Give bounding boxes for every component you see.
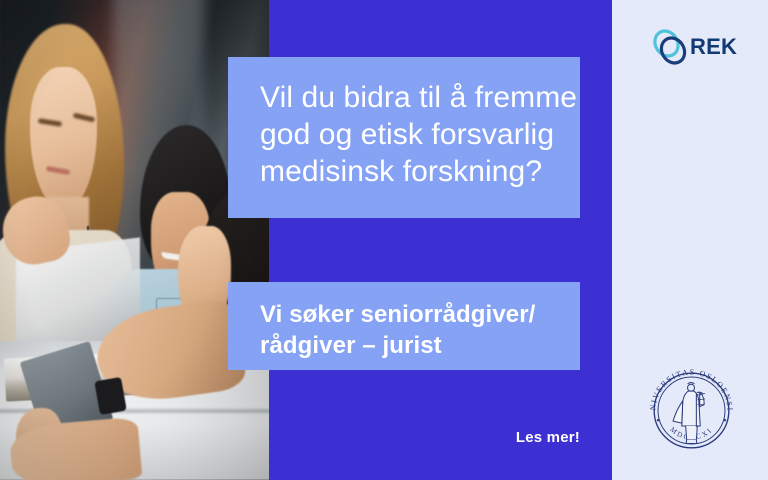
recruitment-banner: Vil du bidra til å fremme god og etisk f… — [0, 0, 768, 480]
role-line-1: Vi søker seniorrådgiver/ — [260, 299, 554, 330]
headline-card: Vil du bidra til å fremme god og etisk f… — [228, 57, 580, 218]
university-of-oslo-seal: UNIVERSITAS OSLOENSIS MDCCCXI — [643, 362, 740, 459]
role-line-2: rådgiver – jurist — [260, 330, 554, 361]
interlocking-rings-icon — [650, 27, 690, 67]
role-card: Vi søker seniorrådgiver/ rådgiver – juri… — [228, 282, 580, 370]
headline-line-2: god og etisk forsvarlig — [260, 116, 550, 153]
headline-line-3: medisinsk forskning? — [260, 153, 550, 190]
rek-wordmark: REK — [690, 36, 737, 58]
read-more-link[interactable]: Les mer! — [430, 429, 580, 446]
headline-line-1: Vil du bidra til å fremme — [260, 79, 550, 116]
rek-logo[interactable]: REK — [650, 26, 738, 68]
